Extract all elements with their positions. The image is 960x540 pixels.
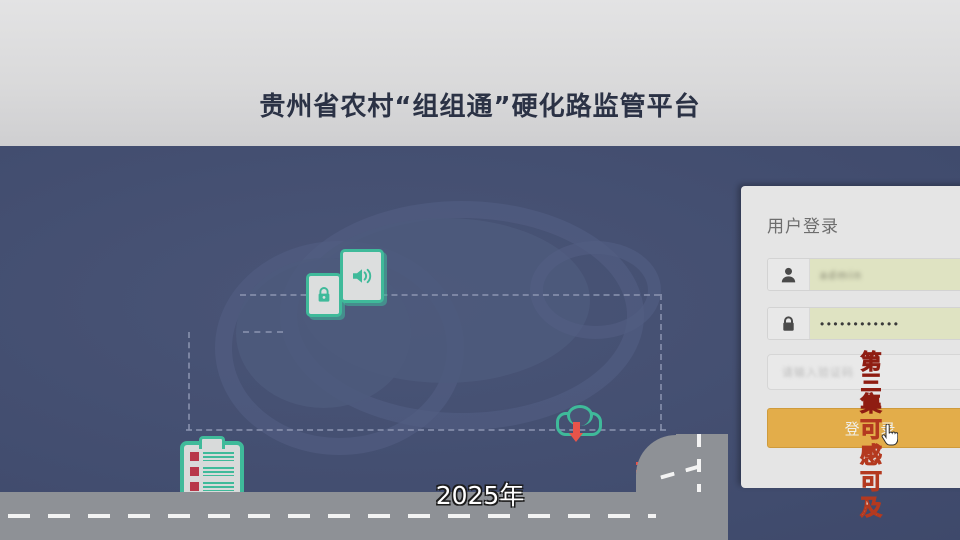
cloud-download-icon xyxy=(556,408,600,438)
connector-dash-right xyxy=(660,294,662,430)
captcha-placeholder: 请输入验证码 xyxy=(782,364,854,380)
page-header: 贵州省农村“组组通”硬化路监管平台 xyxy=(0,0,960,146)
speaker-card-icon xyxy=(340,249,384,303)
screenshot-root: 贵州省农村“组组通”硬化路监管平台 xyxy=(0,0,960,540)
connector-dash-top xyxy=(240,294,660,296)
clipboard-clip xyxy=(199,436,225,449)
tagline-char-1: 可 xyxy=(856,418,886,444)
page-title: 贵州省农村“组组通”硬化路监管平台 xyxy=(0,86,960,123)
connector-dash-left xyxy=(188,332,190,430)
login-panel: 用户登录 admin •••••••••••• xyxy=(741,186,960,488)
connector-dash-mid xyxy=(243,331,283,333)
road-lane-markings xyxy=(8,514,656,518)
episode-label-overlay: 第 三 集 xyxy=(857,352,885,415)
lock-card-icon xyxy=(306,273,342,317)
tagline-char-2: 感 xyxy=(856,444,886,470)
cloud-outline-small xyxy=(530,241,661,339)
download-arrow-head xyxy=(569,433,583,442)
lock-icon xyxy=(309,276,339,314)
video-subtitle: 2025年 xyxy=(0,476,960,512)
lock-icon xyxy=(768,308,810,339)
episode-char-1: 第 xyxy=(857,352,885,373)
episode-char-2: 三 xyxy=(857,373,885,394)
password-value: •••••••••••• xyxy=(820,317,900,331)
login-panel-title: 用户登录 xyxy=(767,212,839,237)
speaker-icon xyxy=(343,252,381,300)
username-value: admin xyxy=(820,268,863,282)
password-field[interactable]: •••••••••••• xyxy=(767,307,960,340)
episode-char-3: 集 xyxy=(857,394,885,415)
user-icon xyxy=(768,259,810,290)
cloud-bump xyxy=(567,405,593,426)
password-value-wrap[interactable]: •••••••••••• xyxy=(810,308,960,339)
username-field[interactable]: admin xyxy=(767,258,960,291)
username-value-wrap[interactable]: admin xyxy=(810,259,960,290)
